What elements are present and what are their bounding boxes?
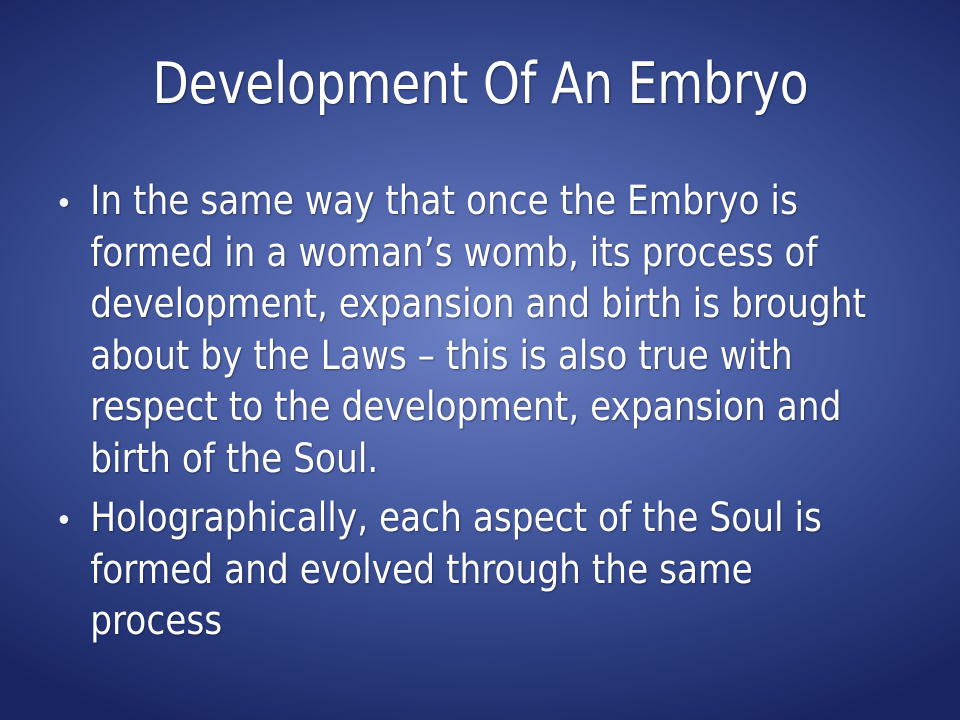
list-item-text: In the same way that once the Embryo is … — [90, 176, 885, 485]
list-item-text: Holographically, each aspect of the Soul… — [90, 493, 885, 648]
slide-title-placeholder: Development Of An Embryo — [0, 54, 960, 114]
page-title: Development Of An Embryo — [152, 54, 808, 114]
list-item: In the same way that once the Embryo is … — [52, 176, 885, 485]
slide-body-placeholder: In the same way that once the Embryo is … — [52, 176, 924, 648]
bullet-dot-icon — [60, 515, 69, 524]
bullet-list: In the same way that once the Embryo is … — [52, 176, 924, 648]
presentation-slide: Development Of An Embryo In the same way… — [0, 0, 960, 720]
bullet-dot-icon — [60, 198, 69, 207]
list-item: Holographically, each aspect of the Soul… — [52, 493, 885, 648]
